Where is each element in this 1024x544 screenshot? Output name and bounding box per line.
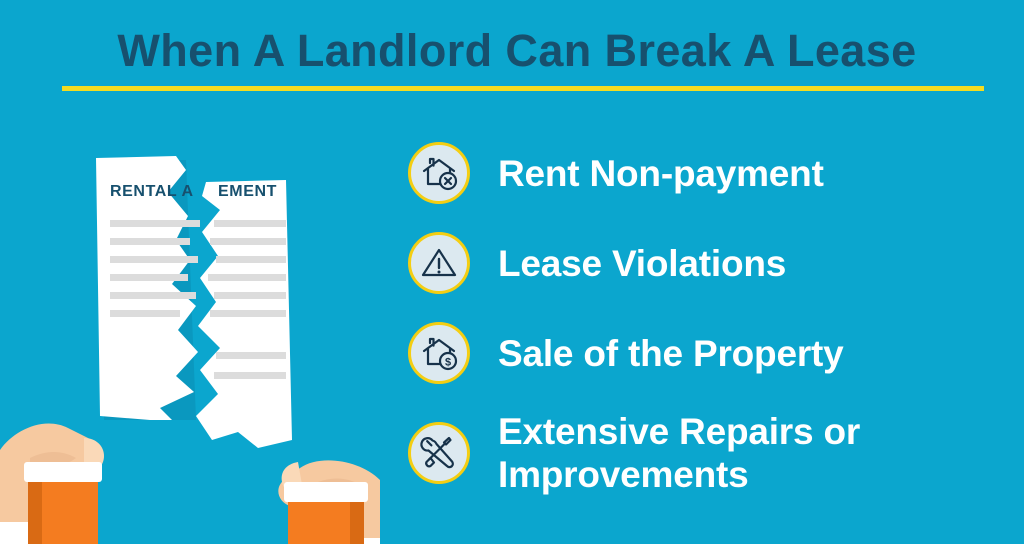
reason-label: Rent Non-payment [498,152,824,195]
document-heading-left: RENTAL A [110,183,194,200]
page-title: When A Landlord Can Break A Lease [62,24,972,78]
house-x-icon [408,142,470,204]
reason-item-sale-of-the-property[interactable]: $ Sale of the Property [408,308,1008,398]
document-heading-right: EMENT [218,183,277,200]
infographic-canvas: When A Landlord Can Break A Lease RENTAL… [0,0,1024,544]
title-underline-rule [62,86,984,91]
svg-text:$: $ [445,356,451,368]
left-sleeve-shading [28,480,42,544]
reason-item-rent-non-payment[interactable]: Rent Non-payment [408,128,1008,218]
right-sleeve-shading [350,500,364,544]
title-block: When A Landlord Can Break A Lease [62,24,972,91]
left-cuff-block [24,462,102,482]
reason-label: Lease Violations [498,242,786,285]
right-cuff-block [284,482,368,502]
reason-item-lease-violations[interactable]: Lease Violations [408,218,1008,308]
document-right-half: EMENT [196,180,292,448]
reason-label: Extensive Repairs or Improvements [498,410,860,496]
tools-wrench-screwdriver-icon [408,422,470,484]
reason-label: Sale of the Property [498,332,844,375]
warning-triangle-icon [408,232,470,294]
house-dollar-icon: $ [408,322,470,384]
reasons-list: Rent Non-payment Lease Violations [408,128,1008,508]
reason-item-extensive-repairs[interactable]: Extensive Repairs or Improvements [408,398,1008,508]
